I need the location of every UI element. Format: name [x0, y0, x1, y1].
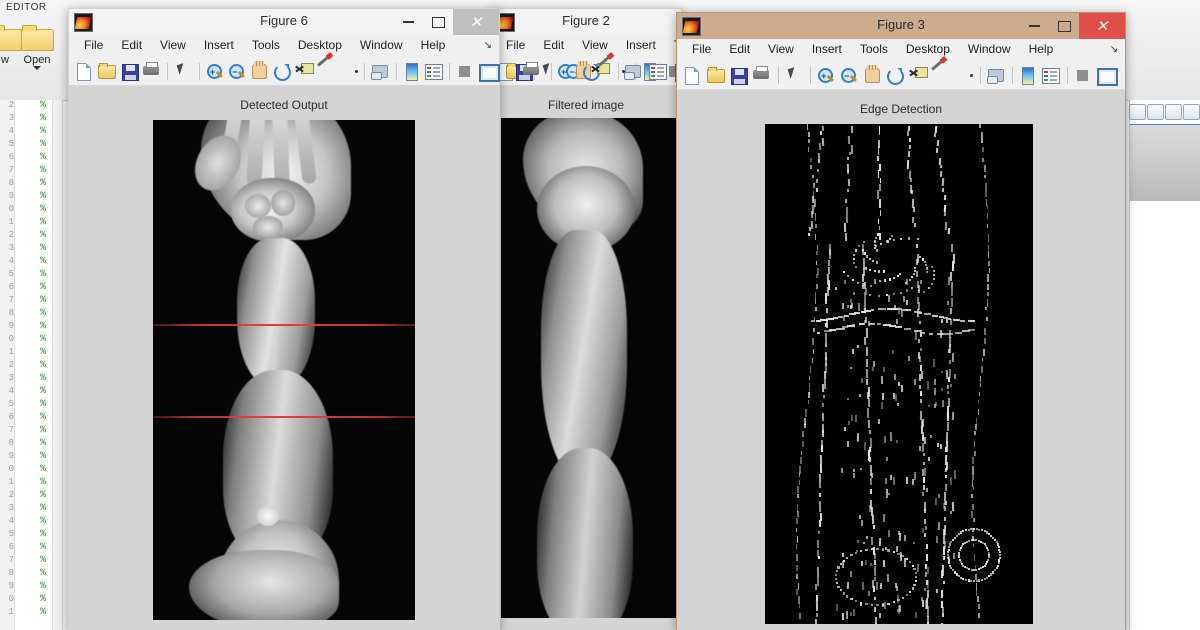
new-figure-icon[interactable] [682, 65, 703, 86]
edge-segment [943, 556, 945, 560]
edge-segment [882, 393, 884, 400]
edge-segment [978, 604, 980, 609]
edge-segment [920, 348, 922, 351]
edge-segment [941, 623, 943, 624]
link-plot-icon[interactable] [622, 61, 628, 82]
xray-image-detected [153, 120, 415, 620]
edge-segment [796, 554, 798, 560]
editor-line-number: 2 [0, 230, 14, 240]
window-controls-figure6: ✕ [393, 9, 499, 35]
edge-segment [907, 131, 909, 136]
menu-item-file[interactable]: File [497, 35, 534, 55]
edge-segment [924, 468, 926, 476]
edge-segment [799, 604, 801, 608]
menubar-figure6[interactable]: FileEditViewInsertToolsDesktopWindowHelp… [68, 35, 500, 57]
edge-segment [909, 279, 911, 281]
undo-icon[interactable] [1129, 104, 1146, 120]
menubar-figure2[interactable]: FileEditViewInsertToolsDesktopWindowHelp [490, 35, 682, 57]
edge-segment [869, 269, 871, 271]
edge-segment [800, 457, 802, 464]
figure-canvas-figure3: Edge Detection [676, 90, 1126, 630]
editor-line-number: 2 [0, 360, 14, 370]
edge-segment [897, 403, 899, 406]
edge-segment [870, 478, 872, 485]
edge-segment [976, 580, 978, 582]
editor-line-number: 0 [0, 464, 14, 474]
edge-segment [813, 328, 815, 332]
save-figure-icon[interactable] [728, 65, 749, 86]
edge-segment [874, 559, 876, 564]
print-figure-icon[interactable] [751, 65, 772, 86]
edge-segment [809, 227, 811, 231]
pan-icon[interactable] [248, 61, 268, 82]
editor-line-number: 4 [0, 256, 14, 266]
edge-segment [947, 422, 949, 431]
edge-segment [846, 557, 848, 559]
open-file-icon[interactable] [705, 65, 726, 86]
edge-segment [889, 278, 891, 280]
toolbar-figure6[interactable]: +− [68, 57, 500, 86]
edge-segment [896, 319, 898, 324]
edge-segment [922, 528, 924, 533]
zoom-in-icon[interactable]: + [204, 61, 224, 82]
edge-segment [968, 329, 975, 331]
edge-segment [850, 367, 852, 369]
editor-comment-marker: % [40, 113, 46, 124]
edge-segment [978, 400, 980, 403]
legend-icon[interactable] [1040, 65, 1061, 86]
menu-item-view[interactable]: View [151, 35, 195, 55]
editor-line-number: 8 [0, 438, 14, 448]
edge-segment [835, 287, 837, 290]
edge-segment [872, 260, 874, 262]
editor-line-number: 7 [0, 295, 14, 305]
edge-segment [935, 588, 937, 592]
edge-segment [845, 199, 847, 203]
edge-segment [987, 299, 989, 306]
editor-comment-marker: % [40, 477, 46, 488]
edge-segment [915, 576, 917, 578]
brush-dropdown-icon[interactable] [605, 61, 611, 82]
edge-segment [798, 596, 800, 604]
edge-segment [842, 613, 844, 620]
edge-segment [915, 580, 917, 582]
menu-item-window[interactable]: Window [959, 39, 1020, 59]
close-icon: ✕ [1096, 19, 1109, 34]
edge-segment [865, 267, 867, 269]
menu-item-view[interactable]: View [759, 39, 803, 59]
edge-segment [944, 492, 946, 501]
edge-segment [994, 569, 996, 571]
help-icon[interactable] [1183, 104, 1200, 120]
edge-segment [911, 287, 913, 289]
open-file-icon[interactable] [504, 61, 510, 82]
edge-segment [923, 477, 925, 483]
edge-segment [846, 215, 848, 223]
edge-segment [855, 600, 857, 602]
edge-segment [817, 577, 819, 586]
data-cursor-icon[interactable] [589, 61, 595, 82]
edge-segment [938, 522, 940, 530]
titlebar-figure2[interactable]: Figure 2 [490, 8, 682, 35]
edge-segment [970, 580, 972, 582]
figure-canvas-figure2: Filtered image [490, 86, 682, 630]
edge-segment [956, 573, 958, 575]
edge-segment [929, 333, 933, 335]
edge-segment [893, 601, 895, 603]
edge-segment [947, 391, 949, 394]
save-figure-icon[interactable] [119, 61, 139, 82]
edge-segment [939, 171, 941, 177]
edge-segment [988, 552, 990, 554]
zoom-in-icon[interactable]: + [555, 61, 561, 82]
menu-item-help[interactable]: Help [1020, 39, 1063, 59]
edge-segment [973, 544, 975, 547]
edge-segment [940, 319, 942, 323]
edge-segment [860, 468, 862, 470]
edge-segment [816, 274, 818, 277]
data-cursor-icon[interactable] [293, 61, 313, 82]
edge-segment [939, 158, 941, 165]
edge-segment [909, 170, 911, 178]
editor-comment-marker: % [40, 165, 46, 176]
editor-line-number: 4 [0, 386, 14, 396]
editor-line-number: 2 [0, 100, 14, 110]
editor-comment-marker: % [40, 464, 46, 475]
edge-segment [924, 261, 926, 263]
edge-segment [875, 245, 877, 247]
brush-icon[interactable] [930, 65, 951, 86]
brush-icon[interactable] [316, 61, 336, 82]
data-cursor-icon[interactable] [907, 65, 928, 86]
link-plot-icon[interactable] [985, 65, 1006, 86]
edge-segment [984, 565, 986, 567]
edge-segment [813, 183, 815, 188]
edge-segment [922, 443, 924, 452]
print-figure-icon[interactable] [521, 61, 527, 82]
edge-segment [816, 251, 818, 255]
print-figure-icon[interactable] [141, 61, 161, 82]
edge-segment [984, 338, 986, 344]
edge-segment [860, 550, 862, 552]
edge-segment [940, 444, 942, 449]
brush-icon[interactable] [597, 61, 603, 82]
edge-segment [853, 469, 855, 472]
edge-segment [936, 536, 938, 543]
edge-segment [965, 579, 967, 581]
edge-segment [902, 597, 904, 599]
maximize-button-figure6[interactable] [423, 9, 453, 35]
colorbar-icon[interactable] [401, 61, 421, 82]
edge-segment [981, 366, 983, 373]
menu-item-insert[interactable]: Insert [195, 35, 243, 55]
new-figure-icon[interactable] [74, 61, 94, 82]
colorbar-icon[interactable] [1017, 65, 1038, 86]
edge-segment [825, 343, 827, 347]
edge-segment [869, 258, 871, 260]
layout-icon[interactable] [1165, 104, 1182, 120]
edge-segment [985, 307, 987, 311]
edge-segment [874, 240, 876, 242]
edge-segment [945, 484, 947, 491]
figure-canvas-figure6: Detected Output [68, 86, 500, 630]
edge-segment [879, 132, 881, 135]
edge-segment [971, 494, 973, 498]
hide-plot-tools-icon[interactable] [454, 61, 474, 82]
hide-plot-tools-icon[interactable] [1072, 65, 1093, 86]
rotate-3d-icon[interactable] [884, 65, 905, 86]
pointer-icon[interactable] [538, 61, 544, 82]
edge-segment [870, 285, 872, 287]
edge-segment [814, 205, 816, 208]
edge-segment [920, 391, 922, 396]
edge-segment [853, 254, 855, 256]
edge-segment [883, 514, 885, 522]
menu-item-desktop[interactable]: Desktop [897, 39, 959, 59]
editor-line-number: 4 [0, 126, 14, 136]
edge-segment [979, 392, 981, 396]
edge-segment [881, 402, 883, 409]
edge-segment [843, 592, 845, 594]
edge-segment [948, 360, 950, 364]
pointer-icon[interactable] [172, 61, 192, 82]
edge-segment [884, 436, 886, 443]
edge-segment [987, 224, 989, 228]
link-plot-icon[interactable] [369, 61, 389, 82]
edge-segment [799, 480, 801, 485]
edge-segment [937, 140, 939, 146]
edge-segment [808, 233, 810, 237]
editor-comment-marker: % [40, 308, 46, 319]
menu-item-insert[interactable]: Insert [803, 39, 851, 59]
edge-segment [819, 143, 821, 150]
brush-dropdown-icon[interactable] [953, 65, 974, 86]
titlebar-figure6[interactable]: Figure 6 ✕ [68, 8, 500, 35]
edge-segment [866, 347, 868, 356]
edge-segment [918, 339, 920, 343]
edge-segment [853, 258, 855, 260]
edge-segment [825, 300, 827, 304]
edge-segment [970, 528, 972, 530]
edge-segment [912, 217, 914, 223]
edge-segment [947, 301, 949, 306]
pan-icon[interactable] [572, 61, 578, 82]
rotate-3d-icon[interactable] [271, 61, 291, 82]
menu-overflow-icon[interactable]: ↘ [484, 40, 492, 51]
show-plot-tools-icon[interactable] [1095, 65, 1116, 86]
edge-segment [923, 462, 925, 465]
menu-item-edit[interactable]: Edit [534, 35, 573, 55]
edge-segment [988, 251, 990, 257]
edge-segment [880, 243, 882, 245]
edge-segment [819, 501, 821, 512]
menu-item-file[interactable]: File [683, 39, 720, 59]
edge-segment [886, 240, 888, 242]
edge-segment [920, 280, 922, 284]
edge-segment [808, 132, 810, 137]
edge-segment [812, 175, 814, 179]
edge-segment [815, 234, 817, 240]
edge-segment [880, 178, 882, 183]
menubar-figure3[interactable]: FileEditViewInsertToolsDesktopWindowHelp… [676, 39, 1126, 61]
edge-segment [987, 205, 989, 209]
show-plot-tools-icon[interactable] [477, 61, 497, 82]
edge-segment [916, 271, 918, 277]
menu-item-tools[interactable]: Tools [851, 39, 897, 59]
edge-segment [819, 474, 821, 482]
edge-segment [904, 328, 911, 330]
edge-segment [817, 169, 819, 173]
edge-segment [844, 280, 846, 284]
figure-window-figure3[interactable]: Figure 3 ✕ FileEditViewInsertToolsDeskto… [676, 12, 1126, 630]
edge-segment [945, 222, 947, 230]
edge-segment [879, 538, 881, 546]
menu-item-help[interactable]: Help [412, 35, 455, 55]
toolbar-separator [449, 63, 450, 80]
editor-line-number: 5 [0, 269, 14, 279]
edge-segment [878, 146, 880, 155]
menu-item-insert[interactable]: Insert [617, 35, 665, 55]
save-figure-icon[interactable] [513, 61, 519, 82]
edge-segment [986, 577, 988, 579]
toolbar-figure3[interactable]: +− [676, 61, 1126, 90]
editor-line-number: 9 [0, 191, 14, 201]
edge-segment [864, 308, 866, 313]
menu-item-desktop[interactable]: Desktop [289, 35, 351, 55]
edge-segment [884, 279, 886, 281]
edge-segment [870, 563, 872, 566]
edge-segment [889, 238, 891, 240]
edge-segment [896, 440, 898, 443]
edge-segment [855, 415, 857, 422]
edge-segment [924, 313, 931, 315]
open-file-icon[interactable] [96, 61, 116, 82]
edge-segment [960, 561, 962, 563]
edge-segment [906, 309, 911, 311]
titlebar-figure3[interactable]: Figure 3 ✕ [676, 12, 1126, 39]
edge-segment [947, 385, 949, 389]
edge-segment [933, 278, 935, 280]
toolbar-figure2[interactable]: +− [490, 57, 682, 86]
edge-segment [861, 520, 863, 526]
editor-comment-marker: % [40, 204, 46, 215]
edge-segment [816, 179, 818, 183]
edge-segment [878, 219, 880, 224]
pointer-icon[interactable] [783, 65, 804, 86]
editor-line-number: 8 [0, 308, 14, 318]
menu-overflow-icon[interactable]: ↘ [1110, 44, 1118, 55]
edge-segment [815, 224, 817, 228]
edge-segment [921, 419, 923, 427]
menu-item-edit[interactable]: Edit [112, 35, 151, 55]
editor-comment-marker: % [40, 100, 46, 111]
redo-icon[interactable] [1147, 104, 1164, 120]
edge-segment [865, 603, 867, 605]
edge-segment [815, 213, 817, 221]
edge-segment [870, 489, 872, 494]
rotate-3d-icon[interactable] [580, 61, 586, 82]
close-button-figure6[interactable]: ✕ [453, 9, 499, 35]
chevron-down-icon[interactable] [33, 66, 41, 70]
edge-segment [811, 221, 813, 229]
edge-segment [913, 273, 915, 275]
edge-segment [879, 184, 881, 190]
edge-segment [924, 519, 926, 524]
editor-comment-marker: % [40, 230, 46, 241]
pan-icon[interactable] [861, 65, 882, 86]
edge-segment [912, 565, 914, 567]
zoom-out-icon[interactable]: − [563, 61, 569, 82]
edge-segment [805, 409, 807, 417]
edge-segment [821, 445, 823, 452]
maximize-button-figure3[interactable] [1049, 13, 1079, 39]
edge-segment [926, 554, 928, 561]
edge-segment [942, 400, 944, 407]
edge-segment [880, 585, 882, 589]
legend-icon[interactable] [423, 61, 443, 82]
edge-segment [950, 319, 952, 325]
edge-segment [952, 502, 954, 511]
edge-segment [948, 562, 950, 564]
figure-window-figure2[interactable]: Figure 2 FileEditViewInsertToolsDesktopW… [490, 8, 682, 630]
edge-segment [875, 623, 877, 624]
colorbar-icon[interactable] [639, 61, 645, 82]
edge-segment [938, 494, 940, 498]
edge-segment [840, 563, 842, 565]
edge-segment [867, 450, 869, 456]
edge-segment [871, 309, 874, 311]
edge-segment [954, 374, 956, 379]
edge-segment [922, 492, 924, 496]
edge-segment [947, 557, 949, 559]
legend-icon[interactable] [647, 61, 653, 82]
menu-item-edit[interactable]: Edit [720, 39, 759, 59]
edge-segment [812, 358, 814, 364]
minimize-button-figure3[interactable] [1019, 13, 1049, 39]
edge-segment [988, 575, 990, 577]
menu-item-file[interactable]: File [75, 35, 112, 55]
ide-right-panel-header [1130, 124, 1200, 201]
zoom-in-icon[interactable]: + [815, 65, 836, 86]
edge-segment [906, 477, 908, 484]
edge-segment [960, 320, 965, 322]
zoom-out-icon[interactable]: − [226, 61, 246, 82]
edge-segment [850, 611, 852, 615]
menu-item-window[interactable]: Window [351, 35, 412, 55]
edge-segment [975, 569, 977, 571]
menu-item-tools[interactable]: Tools [243, 35, 289, 55]
edge-segment [958, 552, 960, 554]
edge-segment [844, 427, 846, 431]
ribbon-tab-editor[interactable]: EDITOR [6, 2, 47, 13]
edge-segment [955, 331, 962, 333]
edge-segment [931, 266, 933, 268]
edge-segment [918, 285, 920, 291]
edge-segment [948, 377, 950, 382]
close-button-figure3[interactable]: ✕ [1079, 13, 1125, 39]
edge-segment [869, 457, 871, 462]
minimize-button-figure6[interactable] [393, 9, 423, 35]
brush-dropdown-icon[interactable] [338, 61, 358, 82]
toolbar-separator [167, 63, 168, 80]
edge-segment [864, 442, 866, 451]
edge-segment [835, 578, 837, 580]
hide-plot-tools-icon[interactable] [664, 61, 670, 82]
zoom-out-icon[interactable]: − [838, 65, 859, 86]
edge-segment [959, 559, 961, 561]
figure-window-figure6[interactable]: Figure 6 ✕ FileEditViewInsertToolsDeskto… [68, 8, 500, 630]
edge-segment [914, 472, 916, 480]
